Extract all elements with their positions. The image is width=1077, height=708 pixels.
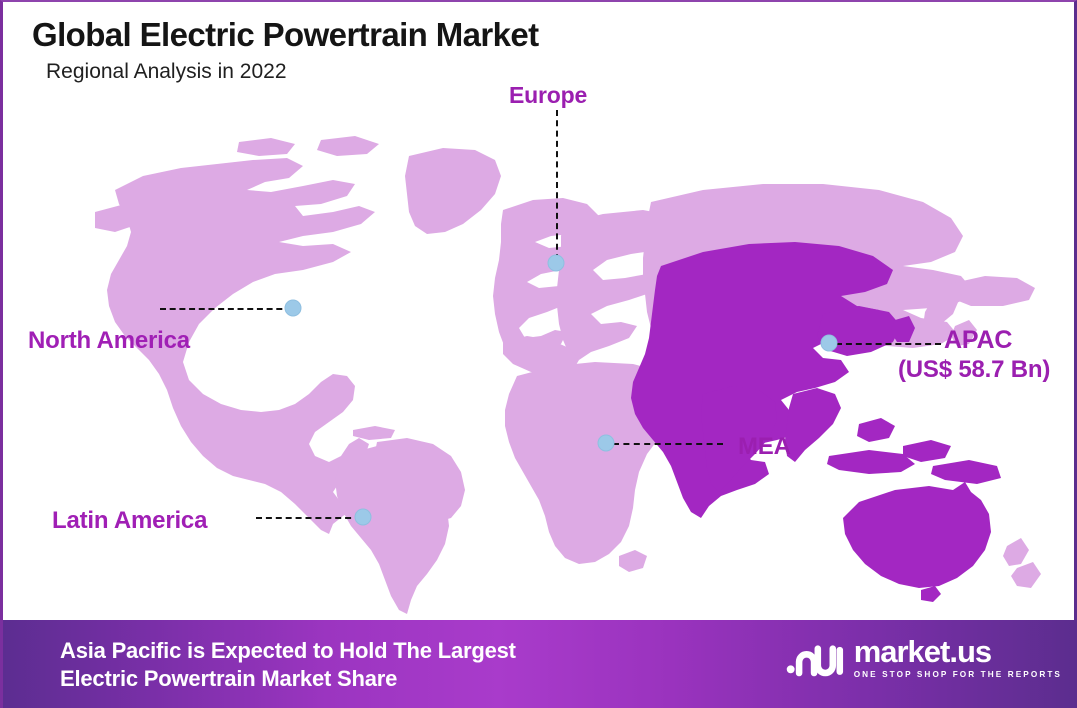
label-latin-america: Latin America — [52, 507, 207, 535]
market-us-logo-icon — [786, 637, 844, 681]
banner-headline: Asia Pacific is Expected to Hold The Lar… — [60, 637, 516, 693]
banner-headline-line1: Asia Pacific is Expected to Hold The Lar… — [60, 637, 516, 665]
header: Global Electric Powertrain Market Region… — [3, 2, 1074, 102]
connector-europe — [556, 110, 558, 260]
connector-north-america — [160, 308, 292, 310]
banner-headline-line2: Electric Powertrain Market Share — [60, 665, 516, 693]
marker-north-america[interactable] — [285, 300, 302, 317]
marker-mea[interactable] — [598, 435, 615, 452]
connector-apac — [836, 343, 941, 345]
marker-europe[interactable] — [548, 255, 565, 272]
brand-logo[interactable]: market.us ONE STOP SHOP FOR THE REPORTS — [786, 636, 1062, 681]
label-mea: MEA — [738, 433, 791, 461]
bottom-banner: Asia Pacific is Expected to Hold The Lar… — [3, 620, 1077, 708]
logo-wordmark: market.us — [854, 636, 1062, 667]
page-title: Global Electric Powertrain Market — [32, 16, 539, 54]
logo-text-wrap: market.us ONE STOP SHOP FOR THE REPORTS — [854, 636, 1062, 681]
marker-apac[interactable] — [821, 335, 838, 352]
label-north-america: North America — [28, 327, 190, 355]
label-apac-value: (US$ 58.7 Bn) — [898, 356, 1050, 384]
label-apac: APAC — [944, 326, 1012, 355]
page-subtitle: Regional Analysis in 2022 — [46, 60, 287, 84]
infographic-canvas: Global Electric Powertrain Market Region… — [0, 0, 1077, 708]
marker-latin-america[interactable] — [355, 509, 372, 526]
connector-mea — [613, 443, 723, 445]
logo-tagline: ONE STOP SHOP FOR THE REPORTS — [854, 669, 1062, 681]
connector-latin-america — [256, 517, 361, 519]
